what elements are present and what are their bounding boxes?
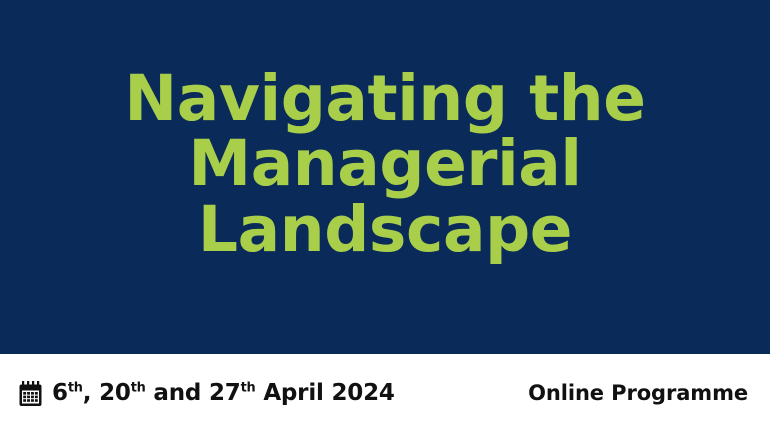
date-third-ordinal: th <box>241 380 256 395</box>
footer-date-group: 6th, 20th and 27th April 2024 <box>18 381 395 407</box>
programme-dates: 6th, 20th and 27th April 2024 <box>52 382 395 405</box>
page-title: Navigating the Managerial Landscape <box>0 66 770 263</box>
date-month-year: April 2024 <box>256 380 395 406</box>
promotional-banner-slide: Navigating the Managerial Landscape <box>0 0 770 433</box>
date-first-ordinal: th <box>68 380 83 395</box>
date-separator-1: , 20 <box>83 380 131 406</box>
hero-banner: Navigating the Managerial Landscape <box>0 0 770 354</box>
date-first-number: 6 <box>52 380 68 406</box>
calendar-icon <box>18 381 43 407</box>
delivery-mode-label: Online Programme <box>528 383 750 404</box>
footer-bar: 6th, 20th and 27th April 2024 Online Pro… <box>0 354 770 433</box>
date-second-ordinal: th <box>131 380 146 395</box>
date-separator-2: and 27 <box>146 380 241 406</box>
